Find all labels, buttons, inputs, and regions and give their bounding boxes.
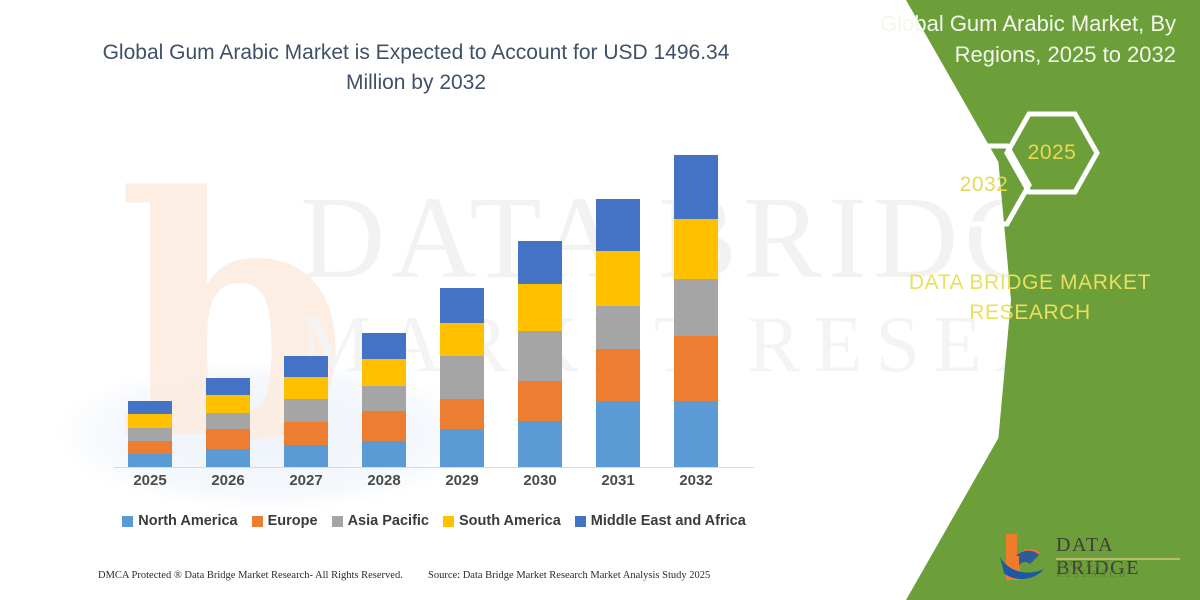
hexagon-year-badges: 2025 2032: [925, 110, 1105, 220]
bar-segment-north-america: [284, 445, 328, 467]
data-bridge-b-monogram-icon: [996, 530, 1052, 580]
bar-segment-north-america: [674, 401, 718, 467]
chart-legend: North AmericaEuropeAsia PacificSouth Ame…: [104, 513, 764, 529]
legend-label: South America: [459, 513, 561, 529]
x-axis-label-2025: 2025: [115, 472, 185, 489]
x-axis-label-2027: 2027: [271, 472, 341, 489]
bar-segment-europe: [674, 336, 718, 401]
bar-segment-asia-pacific: [518, 331, 562, 381]
panel-brand-line-1: DATA BRIDGE MARKET: [880, 268, 1180, 298]
bar-segment-europe: [128, 441, 172, 454]
logo-subtitle: MARKET RESEARCH: [1056, 559, 1186, 579]
bar-segment-middle-east-and-africa: [128, 401, 172, 414]
bar-segment-south-america: [362, 359, 406, 386]
panel-brand-line-2: RESEARCH: [880, 298, 1180, 328]
bar-2027: [284, 356, 328, 467]
bar-segment-asia-pacific: [128, 428, 172, 441]
bar-segment-south-america: [206, 395, 250, 413]
bar-segment-south-america: [674, 219, 718, 279]
x-axis-label-2029: 2029: [427, 472, 497, 489]
legend-item-south-america[interactable]: South America: [443, 513, 561, 529]
bar-2028: [362, 333, 406, 467]
bar-segment-asia-pacific: [362, 386, 406, 411]
footer-source: Source: Data Bridge Market Research Mark…: [428, 570, 710, 581]
legend-swatch-icon: [575, 516, 586, 527]
bar-segment-middle-east-and-africa: [284, 356, 328, 377]
bar-segment-asia-pacific: [284, 399, 328, 422]
hexagon-badge-start-year: 2032: [935, 142, 1033, 228]
bar-segment-north-america: [518, 421, 562, 467]
bar-segment-south-america: [284, 377, 328, 399]
hexagon-badge-start-year-label: 2032: [960, 173, 1009, 197]
bar-segment-middle-east-and-africa: [518, 241, 562, 284]
bar-segment-south-america: [128, 414, 172, 428]
bar-segment-south-america: [518, 284, 562, 331]
bar-segment-middle-east-and-africa: [596, 199, 640, 251]
bar-segment-europe: [284, 422, 328, 445]
x-axis-label-2026: 2026: [193, 472, 263, 489]
hexagon-badge-end-year-label: 2025: [1028, 141, 1077, 165]
bar-segment-middle-east-and-africa: [440, 288, 484, 323]
legend-label: Asia Pacific: [348, 513, 429, 529]
x-axis-line: [114, 467, 754, 468]
bar-segment-europe: [518, 381, 562, 421]
legend-item-north-america[interactable]: North America: [122, 513, 237, 529]
bar-segment-europe: [362, 411, 406, 441]
bar-2025: [128, 401, 172, 467]
stacked-bar-chart: 20252026202720282029203020312032: [100, 120, 765, 470]
bar-segment-south-america: [596, 251, 640, 306]
bar-segment-asia-pacific: [674, 279, 718, 336]
bar-segment-asia-pacific: [440, 356, 484, 399]
bar-segment-europe: [206, 429, 250, 449]
bar-segment-middle-east-and-africa: [674, 155, 718, 219]
legend-item-europe[interactable]: Europe: [252, 513, 318, 529]
legend-label: Middle East and Africa: [591, 513, 746, 529]
bar-segment-asia-pacific: [596, 306, 640, 349]
x-axis-tick-labels: 20252026202720282029203020312032: [100, 472, 765, 498]
bar-segment-north-america: [362, 441, 406, 467]
bar-2032: [674, 155, 718, 467]
bar-2029: [440, 288, 484, 467]
bar-segment-europe: [596, 349, 640, 401]
bar-segment-middle-east-and-africa: [206, 378, 250, 395]
legend-swatch-icon: [122, 516, 133, 527]
bar-2030: [518, 241, 562, 467]
infographic-canvas: b DATA BRIDGE MARKET RESEARCH Global Gum…: [0, 0, 1200, 600]
page-title: Global Gum Arabic Market is Expected to …: [96, 38, 736, 98]
legend-label: North America: [138, 513, 237, 529]
bar-segment-europe: [440, 399, 484, 429]
bar-segment-north-america: [206, 449, 250, 467]
x-axis-label-2028: 2028: [349, 472, 419, 489]
bar-2026: [206, 378, 250, 467]
data-bridge-logo: DATA BRIDGE MARKET RESEARCH: [996, 530, 1186, 582]
bar-segment-middle-east-and-africa: [362, 333, 406, 359]
bar-segment-north-america: [596, 401, 640, 467]
bar-segment-south-america: [440, 323, 484, 356]
bar-segment-north-america: [440, 429, 484, 467]
legend-label: Europe: [268, 513, 318, 529]
panel-brand-name: DATA BRIDGE MARKET RESEARCH: [880, 268, 1180, 328]
panel-title: Global Gum Arabic Market, By Regions, 20…: [846, 8, 1176, 70]
x-axis-label-2032: 2032: [661, 472, 731, 489]
bar-segment-north-america: [128, 454, 172, 467]
x-axis-label-2030: 2030: [505, 472, 575, 489]
legend-item-asia-pacific[interactable]: Asia Pacific: [332, 513, 429, 529]
legend-item-middle-east-and-africa[interactable]: Middle East and Africa: [575, 513, 746, 529]
bar-2031: [596, 199, 640, 467]
x-axis-label-2031: 2031: [583, 472, 653, 489]
chart-plot-area: [100, 120, 765, 468]
legend-swatch-icon: [252, 516, 263, 527]
bar-segment-asia-pacific: [206, 413, 250, 429]
footer-copyright: DMCA Protected ® Data Bridge Market Rese…: [98, 570, 403, 581]
legend-swatch-icon: [332, 516, 343, 527]
legend-swatch-icon: [443, 516, 454, 527]
